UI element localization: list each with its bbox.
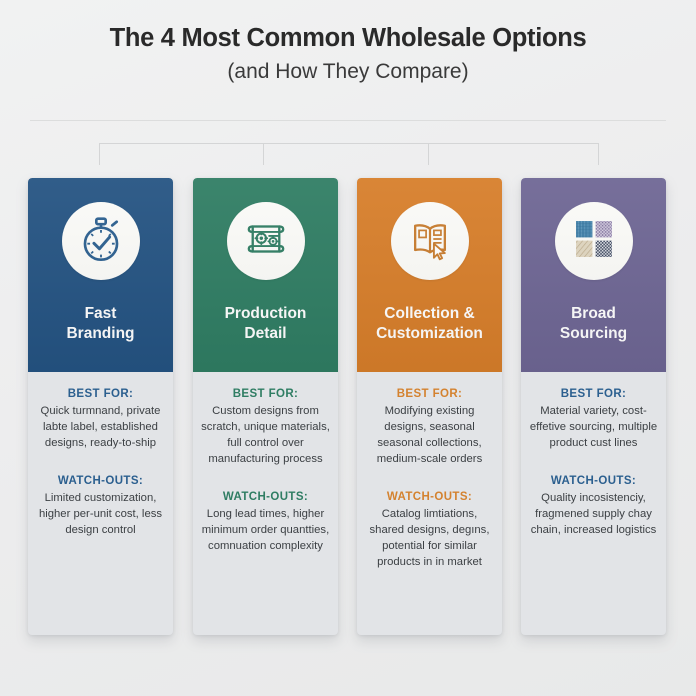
header-divider xyxy=(30,120,666,121)
bracket-tick-4 xyxy=(598,143,599,165)
catalog-cursor-icon xyxy=(405,214,455,269)
bracket-tick-2 xyxy=(263,143,264,165)
best-for-label: BEST FOR: xyxy=(36,388,165,400)
page-subtitle: (and How They Compare) xyxy=(0,59,696,84)
card-title: Fast Branding xyxy=(60,304,140,344)
spacer xyxy=(529,451,658,475)
bracket-tick-1 xyxy=(99,143,100,165)
spacer xyxy=(201,467,330,491)
best-for-text: Material variety, cost-effetive sourcing… xyxy=(529,403,658,451)
blueprint-gears-icon xyxy=(241,214,291,269)
spacer xyxy=(36,451,165,475)
watch-outs-text: Catalog limtiations, shared designs, deg… xyxy=(365,506,494,570)
best-for-text: Modifying existing designs, seasonal sea… xyxy=(365,403,494,467)
card-title: Broad Sourcing xyxy=(554,304,633,344)
card-broad-sourcing[interactable]: Broad Sourcing BEST FOR: Material variet… xyxy=(521,178,666,635)
watch-outs-label: WATCH-OUTS: xyxy=(365,491,494,503)
card-body: BEST FOR: Modifying existing designs, se… xyxy=(357,372,502,570)
spacer xyxy=(365,467,494,491)
icon-badge xyxy=(62,202,140,280)
best-for-label: BEST FOR: xyxy=(529,388,658,400)
card-production-detail[interactable]: Production Detail BEST FOR: Custom desig… xyxy=(193,178,338,635)
card-header: Collection & Customization xyxy=(357,178,502,372)
bracket-connector xyxy=(99,143,599,173)
card-header: Broad Sourcing xyxy=(521,178,666,372)
card-collection-customization[interactable]: Collection & Customization BEST FOR: Mod… xyxy=(357,178,502,635)
icon-badge xyxy=(555,202,633,280)
bracket-bar xyxy=(99,143,599,144)
watch-outs-label: WATCH-OUTS: xyxy=(36,475,165,487)
icon-badge xyxy=(391,202,469,280)
best-for-label: BEST FOR: xyxy=(365,388,494,400)
watch-outs-text: Limited customization, higher per-unit c… xyxy=(36,490,165,538)
best-for-text: Quick turmnand, private labte label, est… xyxy=(36,403,165,451)
watch-outs-label: WATCH-OUTS: xyxy=(201,491,330,503)
card-fast-branding[interactable]: Fast Branding BEST FOR: Quick turmnand, … xyxy=(28,178,173,635)
bracket-tick-3 xyxy=(428,143,429,165)
card-body: BEST FOR: Quick turmnand, private labte … xyxy=(28,372,173,538)
infographic-canvas: The 4 Most Common Wholesale Options (and… xyxy=(0,0,696,696)
card-body: BEST FOR: Custom designs from scratch, u… xyxy=(193,372,338,554)
watch-outs-text: Long lead times, higher minimum order qu… xyxy=(201,506,330,554)
watch-outs-text: Quality incosistenciy, fragmened supply … xyxy=(529,490,658,538)
watch-outs-label: WATCH-OUTS: xyxy=(529,475,658,487)
best-for-text: Custom designs from scratch, unique mate… xyxy=(201,403,330,467)
card-header: Production Detail xyxy=(193,178,338,372)
card-title: Production Detail xyxy=(219,304,313,344)
card-header: Fast Branding xyxy=(28,178,173,372)
icon-badge xyxy=(227,202,305,280)
header: The 4 Most Common Wholesale Options (and… xyxy=(0,24,696,85)
card-body: BEST FOR: Material variety, cost-effetiv… xyxy=(521,372,666,538)
page-title: The 4 Most Common Wholesale Options xyxy=(0,24,696,53)
card-title: Collection & Customization xyxy=(370,304,489,344)
fabric-swatches-icon xyxy=(569,214,619,269)
stopwatch-icon xyxy=(76,214,126,269)
best-for-label: BEST FOR: xyxy=(201,388,330,400)
